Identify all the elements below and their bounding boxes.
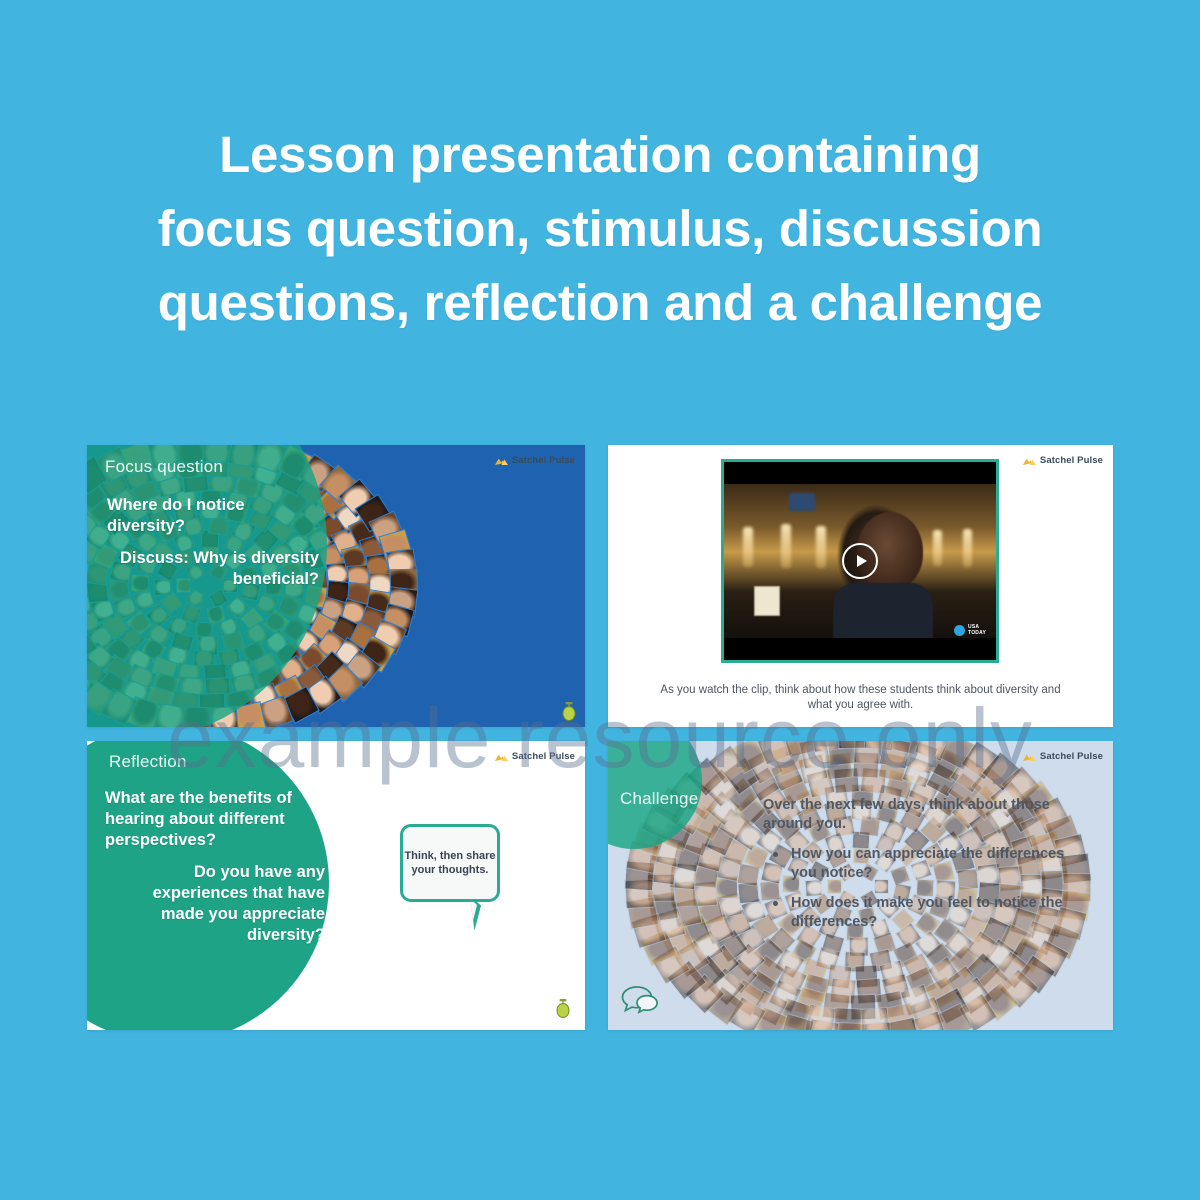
play-icon[interactable] [842, 543, 878, 579]
mountain-icon [1023, 752, 1036, 761]
page-title-line-2: focus question, stimulus, discussion [0, 192, 1200, 266]
mountain-icon [495, 752, 508, 761]
pear-icon [561, 699, 577, 721]
page-title-line-1: Lesson presentation containing [0, 118, 1200, 192]
slide-stimulus[interactable]: Satchel Pulse USA TODAY [608, 445, 1113, 727]
brand-name: Satchel Pulse [512, 455, 575, 466]
challenge-bullet-list: How you can appreciate the differences y… [763, 845, 1091, 932]
usa-today-badge: USA TODAY [954, 625, 986, 636]
slide-challenge[interactable]: Challenge Over the next few days, think … [608, 741, 1113, 1030]
page-title: Lesson presentation containing focus que… [0, 118, 1200, 340]
slide-focus-question[interactable]: Focus question Where do I notice diversi… [87, 445, 585, 727]
satchel-pulse-logo: Satchel Pulse [495, 455, 575, 466]
satchel-pulse-logo: Satchel Pulse [495, 751, 575, 762]
brand-name: Satchel Pulse [1040, 455, 1103, 466]
slide-kicker: Challenge [620, 789, 698, 809]
brand-name: Satchel Pulse [512, 751, 575, 762]
page-title-line-3: questions, reflection and a challenge [0, 266, 1200, 340]
focus-question-primary: Where do I notice diversity? [107, 496, 245, 535]
satchel-pulse-logo: Satchel Pulse [1023, 455, 1103, 466]
chat-bubbles-icon [620, 984, 660, 1016]
reflection-question-secondary: Do you have any experiences that have ma… [105, 862, 325, 946]
challenge-bullet: How does it make you feel to notice the … [763, 894, 1091, 932]
reflection-question-primary: What are the benefits of hearing about d… [105, 789, 292, 849]
video-player[interactable]: USA TODAY [721, 459, 999, 663]
stimulus-caption: As you watch the clip, think about how t… [608, 683, 1113, 713]
pear-icon [555, 996, 571, 1018]
mountain-icon [495, 456, 508, 465]
usa-today-line-2: TODAY [968, 631, 986, 637]
usa-today-dot [954, 625, 965, 636]
speech-bubble: Think, then share your thoughts. [400, 824, 500, 902]
focus-question-secondary: Discuss: Why is diversity beneficial? [107, 548, 319, 590]
challenge-intro: Over the next few days, think about thos… [763, 796, 1091, 834]
slide-kicker: Focus question [105, 457, 223, 477]
speech-bubble-text: Think, then share your thoughts. [403, 849, 497, 878]
mountain-icon [1023, 456, 1036, 465]
brand-name: Satchel Pulse [1040, 751, 1103, 762]
slide-reflection[interactable]: Reflection What are the benefits of hear… [87, 741, 585, 1030]
slide-kicker: Reflection [109, 752, 187, 772]
challenge-bullet: How you can appreciate the differences y… [763, 845, 1091, 883]
slide-grid: Focus question Where do I notice diversi… [87, 445, 1113, 1030]
satchel-pulse-logo: Satchel Pulse [1023, 751, 1103, 762]
